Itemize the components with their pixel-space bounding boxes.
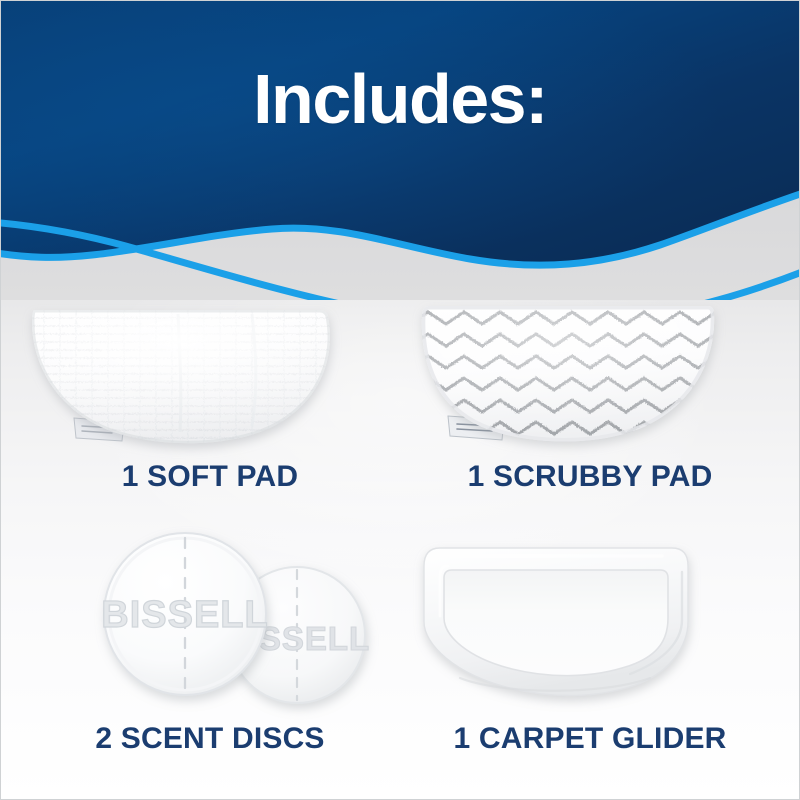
carpet-glider-icon <box>400 526 780 716</box>
product-cell-carpet-glider: 1 CARPET GLIDER <box>400 526 780 758</box>
brand-emboss-front: BISSELL <box>101 594 268 636</box>
header-wave-graphic <box>0 0 800 300</box>
page-title: Includes: <box>0 64 800 134</box>
product-cell-scrubby-pad: 1 SCRUBBY PAD <box>400 296 780 496</box>
caption-soft-pad: 1 SOFT PAD <box>20 460 400 494</box>
scent-disc-icon: BISSELL BISSELL <box>20 526 400 716</box>
product-includes-graphic: Includes: <box>0 0 800 800</box>
product-cell-soft-pad: 1 SOFT PAD <box>20 296 400 496</box>
soft-mop-pad-icon <box>20 296 400 456</box>
product-cell-scent-discs: BISSELL BISSELL 2 SCENT DISCS <box>20 526 400 758</box>
caption-scent-discs: 2 SCENT DISCS <box>20 722 400 756</box>
caption-carpet-glider: 1 CARPET GLIDER <box>400 722 780 756</box>
caption-scrubby-pad: 1 SCRUBBY PAD <box>400 460 780 494</box>
header-banner: Includes: <box>0 0 800 300</box>
scrubby-mop-pad-icon <box>400 296 780 456</box>
